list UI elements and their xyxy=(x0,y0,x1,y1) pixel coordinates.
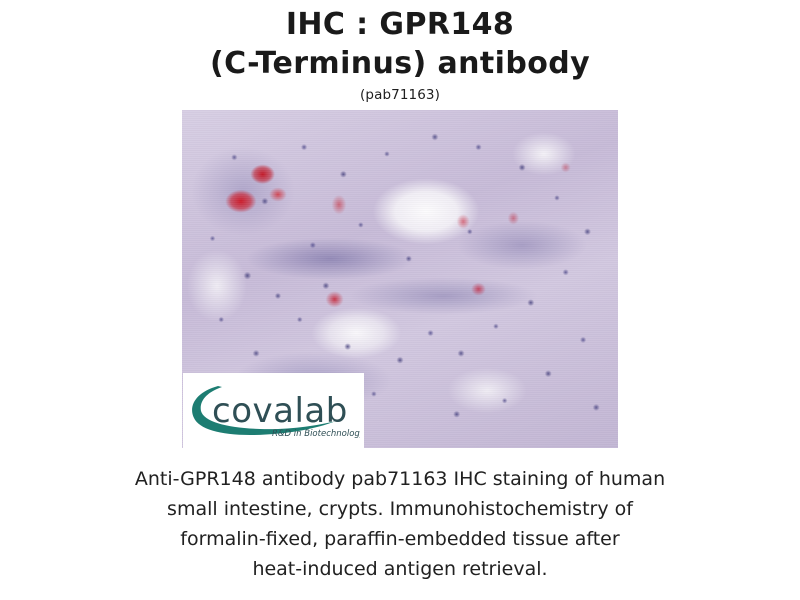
ihc-micrograph-figure: covalab R&D in Biotechnology xyxy=(182,110,618,448)
covalab-wordmark: covalab xyxy=(212,391,348,431)
page-title-line-1: IHC : GPR148 xyxy=(0,6,800,44)
covalab-logo-inner: covalab R&D in Biotechnology xyxy=(188,380,360,442)
covalab-logo-icon: covalab R&D in Biotechnology xyxy=(188,380,360,442)
figure-caption: Anti-GPR148 antibody pab71163 IHC staini… xyxy=(70,464,730,584)
caption-line: Anti-GPR148 antibody pab71163 IHC staini… xyxy=(70,464,730,494)
page-title-line-2: (C-Terminus) antibody xyxy=(0,45,800,83)
covalab-logo-watermark: covalab R&D in Biotechnology xyxy=(183,373,364,448)
caption-line: heat-induced antigen retrieval. xyxy=(70,554,730,584)
title-block: IHC : GPR148 (C-Terminus) antibody (pab7… xyxy=(0,0,800,104)
catalog-number: (pab71163) xyxy=(0,86,800,104)
caption-line: small intestine, crypts. Immunohistochem… xyxy=(70,494,730,524)
caption-line: formalin-fixed, paraffin-embedded tissue… xyxy=(70,524,730,554)
product-figure-page: IHC : GPR148 (C-Terminus) antibody (pab7… xyxy=(0,0,800,600)
covalab-tagline: R&D in Biotechnology xyxy=(272,429,360,439)
